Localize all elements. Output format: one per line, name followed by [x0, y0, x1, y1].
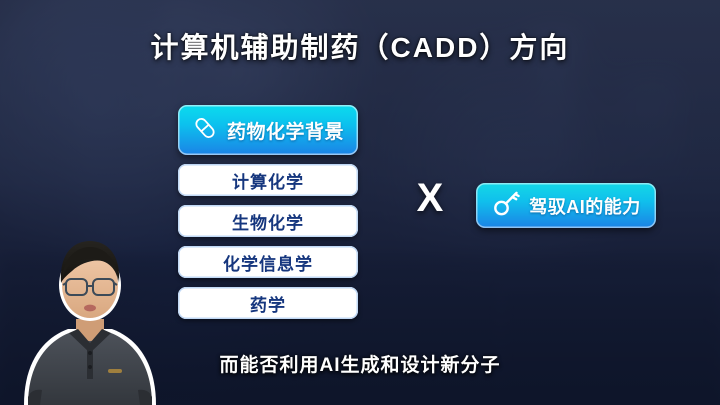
chip-computational-chemistry[interactable]: 计算化学	[178, 164, 358, 196]
chip-label: 驾驭AI的能力	[529, 193, 641, 219]
pill-capsule-icon	[192, 115, 218, 146]
chip-label: 生物化学	[232, 209, 304, 234]
chip-medicinal-chemistry-background[interactable]: 药物化学背景	[178, 105, 358, 155]
chip-label: 药物化学背景	[227, 117, 344, 144]
chip-label: 计算化学	[232, 168, 304, 193]
multiplication-operator: X	[400, 176, 460, 221]
chip-biochemistry[interactable]: 生物化学	[178, 205, 358, 237]
skills-column: 药物化学背景 计算化学 生物化学 化学信息学 药学	[178, 105, 358, 319]
key-icon	[491, 188, 521, 223]
slide-canvas: 计算机辅助制药（CADD）方向 药物化学背景 计算化学 生物化学 化学信息学	[0, 0, 720, 405]
chip-cheminformatics[interactable]: 化学信息学	[178, 246, 358, 278]
chip-pharmacy[interactable]: 药学	[178, 287, 358, 319]
chip-label: 药学	[250, 291, 286, 316]
chip-ai-capability[interactable]: 驾驭AI的能力	[476, 183, 656, 228]
presenter-cutout	[6, 219, 174, 405]
page-title: 计算机辅助制药（CADD）方向	[0, 26, 720, 66]
chip-label: 化学信息学	[223, 250, 313, 275]
